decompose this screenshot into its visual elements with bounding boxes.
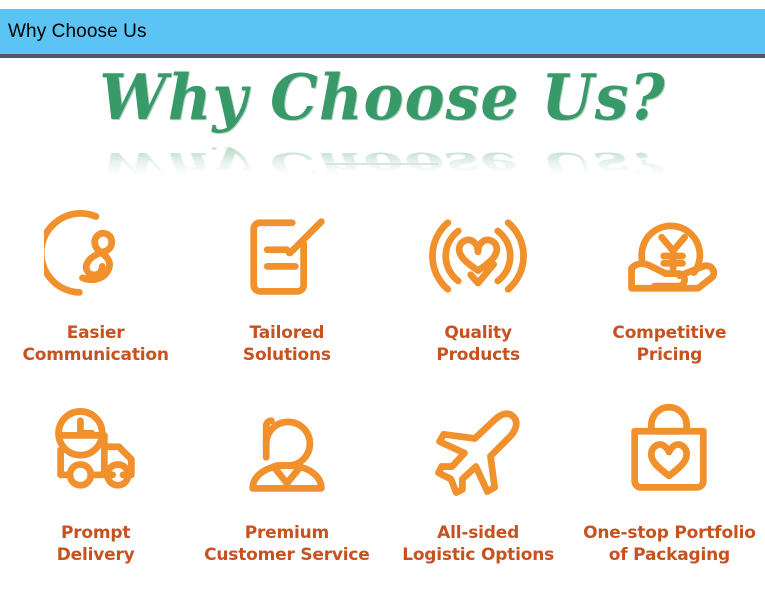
feature-item-all-sided-logistic-options[interactable]: All-sided Logistic Options	[383, 392, 574, 588]
feature-label: Premium Customer Service	[204, 522, 370, 567]
ear-listening-icon	[44, 204, 148, 308]
feature-label: Quality Products	[436, 322, 520, 367]
shopping-bag-heart-icon	[617, 400, 721, 504]
hand-yen-coin-icon	[617, 204, 721, 308]
page-title: Why Choose Us?	[99, 67, 665, 130]
feature-item-tailored-solutions[interactable]: Tailored Solutions	[191, 196, 382, 392]
feature-item-competitive-pricing[interactable]: Competitive Pricing	[574, 196, 765, 392]
hero-title-wrap: Why Choose Us?	[0, 68, 765, 128]
hero-divider	[326, 163, 439, 165]
feature-item-prompt-delivery[interactable]: Prompt Delivery	[0, 392, 191, 588]
feature-label: One-stop Portfolio of Packaging	[583, 522, 756, 567]
feature-item-one-stop-portfolio-of-packaging[interactable]: One-stop Portfolio of Packaging	[574, 392, 765, 588]
feature-grid: Easier Communication Tailored Solutions	[0, 196, 765, 588]
hero-section: Why Choose Us? Why Choose Us?	[0, 58, 765, 168]
feature-item-quality-products[interactable]: Quality Products	[383, 196, 574, 392]
feature-item-premium-customer-service[interactable]: Premium Customer Service	[191, 392, 382, 588]
feature-label: Prompt Delivery	[57, 522, 135, 567]
feature-label: All-sided Logistic Options	[402, 522, 554, 567]
delivery-truck-clock-icon	[44, 400, 148, 504]
heart-check-signal-icon	[426, 204, 530, 308]
airplane-icon	[426, 400, 530, 504]
window-title: Why Choose Us	[8, 21, 147, 43]
headset-agent-icon	[235, 400, 339, 504]
feature-item-easier-communication[interactable]: Easier Communication	[0, 196, 191, 392]
document-pencil-icon	[235, 204, 339, 308]
feature-label: Competitive Pricing	[612, 322, 726, 367]
window-titlebar: Why Choose Us	[0, 9, 765, 58]
feature-label: Easier Communication	[22, 322, 168, 367]
feature-label: Tailored Solutions	[243, 322, 331, 367]
